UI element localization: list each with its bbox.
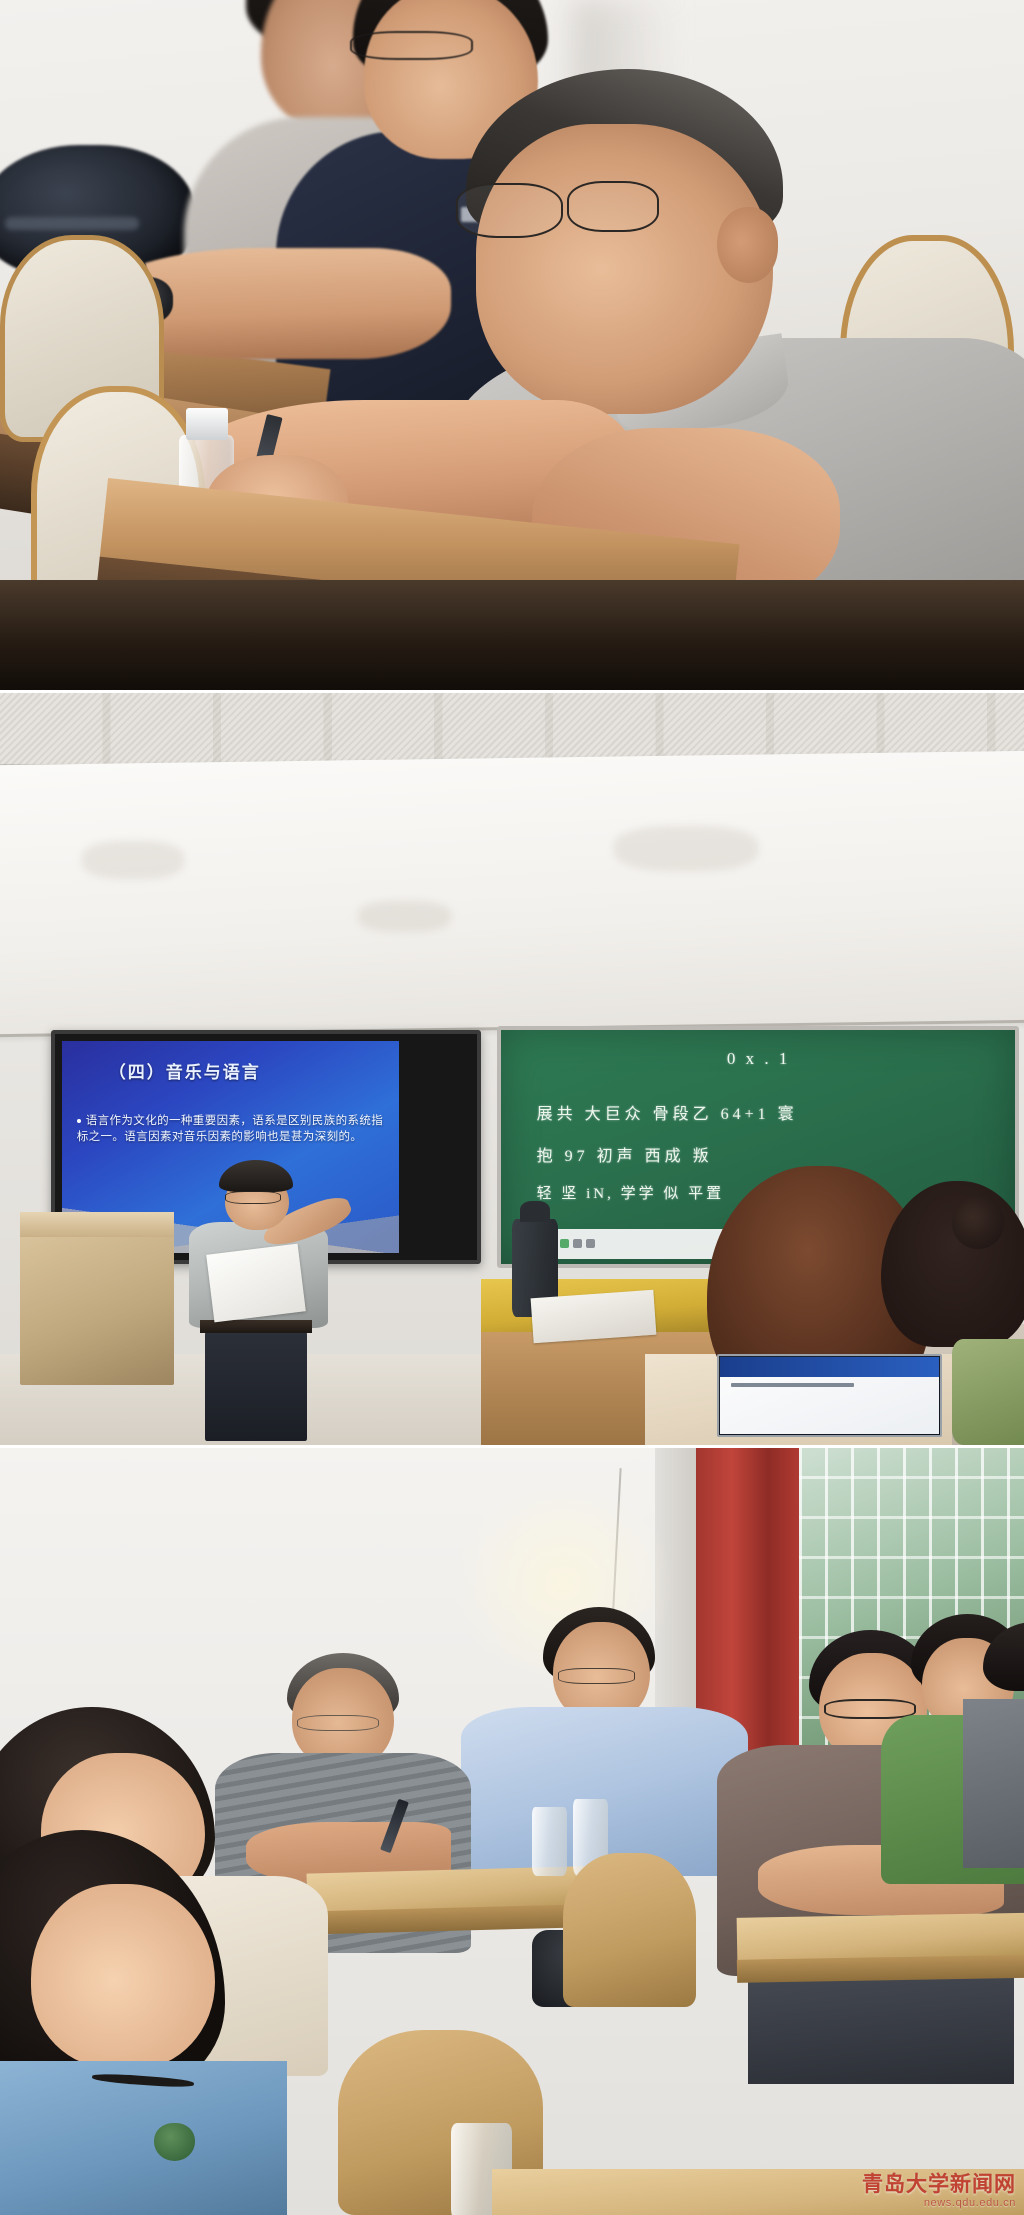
hair-bun	[952, 1196, 1003, 1249]
slide-bullet-content: 语言作为文化的一种重要因素，语系是区别民族的系统指标之一。语言因素对音乐因素的影…	[77, 1115, 384, 1144]
green-backpack	[952, 1339, 1024, 1445]
glasses-icon	[297, 1715, 379, 1732]
watermark-logo-text: 青岛大学新闻网	[862, 2168, 1016, 2198]
panel-divider	[0, 690, 1024, 693]
photo-panel-bottom: 青岛大学新闻网 news.qdu.edu.cn	[0, 1445, 1024, 2215]
ear	[717, 207, 778, 283]
laptop-screen-header	[720, 1357, 939, 1377]
open-book	[531, 1290, 657, 1344]
laptop-screen-text	[731, 1383, 854, 1388]
photo-panel-middle: （四）音乐与语言 语言作为文化的一种重要因素，语系是区别民族的系统指标之一。语言…	[0, 690, 1024, 1445]
select-icon[interactable]	[560, 1239, 569, 1248]
whiteboard-smudge	[82, 841, 184, 879]
glasses-icon	[558, 1668, 635, 1683]
laptop	[717, 1354, 942, 1437]
watermark: 青岛大学新闻网 news.qdu.edu.cn	[862, 2168, 1016, 2209]
water-bottle	[532, 1807, 567, 1876]
lecture-notes-paper	[206, 1243, 306, 1322]
glasses-icon	[350, 31, 473, 60]
under-desk-shadow	[0, 580, 1024, 690]
laptop-screen	[720, 1357, 939, 1434]
watermark-url: news.qdu.edu.cn	[924, 2197, 1016, 2209]
glasses-icon	[225, 1191, 280, 1204]
bottle-cap	[186, 408, 228, 440]
undo-icon[interactable]	[573, 1239, 582, 1248]
whiteboard-smudge	[358, 901, 450, 931]
chalk-line-3: 抱 97 初声 西成 叛	[537, 1142, 713, 1166]
person-body-grey	[963, 1699, 1024, 1868]
slide-title: （四）音乐与语言	[109, 1058, 399, 1083]
photo-panel-top	[0, 0, 1024, 690]
lecturer-legs	[205, 1328, 307, 1441]
whiteboard	[0, 751, 1024, 1037]
whiteboard-smudge	[614, 826, 757, 871]
photo-collage: （四）音乐与语言 语言作为文化的一种重要因素，语系是区别民族的系统指标之一。语言…	[0, 0, 1024, 2215]
redo-icon[interactable]	[586, 1239, 595, 1248]
jade-pendant	[154, 2123, 195, 2162]
lecturer-belt	[200, 1320, 313, 1332]
podium	[20, 1234, 174, 1385]
person-head	[31, 1884, 215, 2069]
desk-edge	[737, 1954, 1024, 1983]
chalk-line-4: 轻 坚 iN, 学学 似 平置	[537, 1182, 725, 1203]
panel-divider	[0, 1445, 1024, 1448]
glasses-icon	[456, 183, 564, 238]
glasses-icon	[567, 181, 659, 232]
chalk-line-1: 0 x . 1	[727, 1049, 791, 1069]
bullet-dot	[77, 1119, 81, 1123]
slide-bullet-text: 语言作为文化的一种重要因素，语系是区别民族的系统指标之一。语言因素对音乐因素的影…	[77, 1113, 391, 1146]
chair-back	[563, 1853, 696, 2007]
chalk-line-2: 展共 大巨众 骨段乙 64+1 寰	[537, 1100, 798, 1124]
